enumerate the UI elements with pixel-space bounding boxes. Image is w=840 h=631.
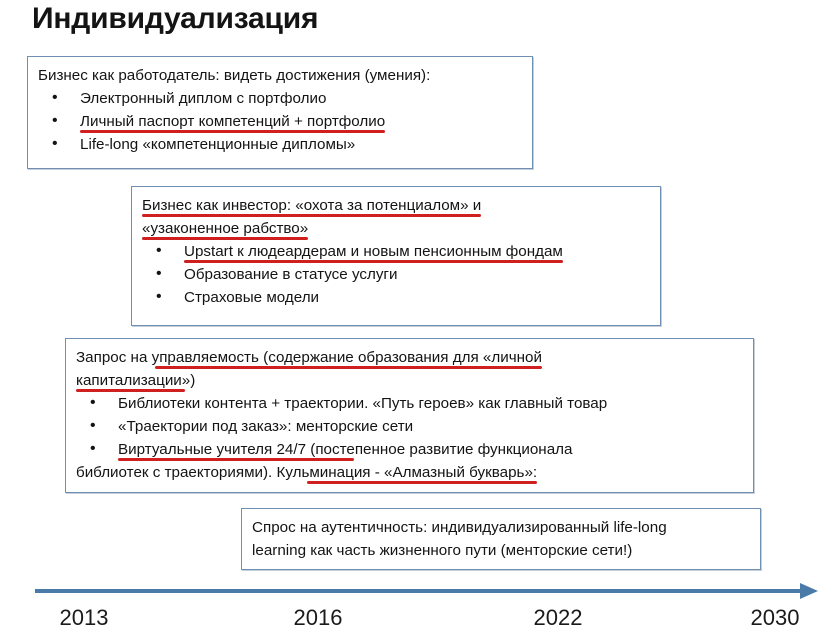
timeline-year-label: 2022: [513, 605, 603, 631]
line-text: Электронный диплом с портфолио: [80, 90, 326, 107]
bullet-item: Upstart к людеардерам и новым пенсионным…: [142, 240, 651, 263]
text-line: Бизнес как работодатель: видеть достижен…: [38, 64, 523, 87]
text-line: капитализации»): [76, 369, 744, 392]
line-text: «узаконенное рабство»: [142, 220, 308, 237]
callout-body: Спрос на аутентичность: индивидуализиров…: [242, 509, 760, 569]
timeline-arrow-head-icon: [800, 583, 818, 599]
timeline-year-label: 2016: [273, 605, 363, 631]
line-text: Бизнес как работодатель: видеть достижен…: [38, 67, 430, 84]
line-text: «Траектории под заказ»: менторские сети: [118, 418, 413, 435]
bullet-item: «Траектории под заказ»: менторские сети: [76, 415, 744, 438]
bullet-item: Страховые модели: [142, 286, 651, 309]
callout-body: Бизнес как работодатель: видеть достижен…: [28, 57, 532, 163]
timeline-year-label: 2030: [730, 605, 820, 631]
text-line: «узаконенное рабство»: [142, 217, 651, 240]
line-text: Спрос на аутентичность: индивидуализиров…: [252, 519, 667, 536]
line-text: Запрос на управляемость (содержание обра…: [76, 349, 542, 366]
line-text: Виртуальные учителя 24/7 (постепенное ра…: [118, 441, 572, 458]
text-line: Спрос на аутентичность: индивидуализиров…: [252, 516, 751, 539]
red-underline-mark: [307, 481, 538, 484]
bullet-item: Личный паспорт компетенций + портфолио: [38, 110, 523, 133]
callout-business-as-employer[interactable]: Бизнес как работодатель: видеть достижен…: [27, 56, 533, 169]
callout-demand-for-authenticity[interactable]: Спрос на аутентичность: индивидуализиров…: [241, 508, 761, 570]
bullet-item: Библиотеки контента + траектории. «Путь …: [76, 392, 744, 415]
callout-body: Бизнес как инвестор: «охота за потенциал…: [132, 187, 660, 316]
bullet-item: Life-long «компетенционные дипломы»: [38, 133, 523, 156]
line-text: Страховые модели: [184, 289, 319, 306]
callout-demand-for-manageability[interactable]: Запрос на управляемость (содержание обра…: [65, 338, 754, 493]
line-text: Библиотеки контента + траектории. «Путь …: [118, 395, 607, 412]
text-line: Запрос на управляемость (содержание обра…: [76, 346, 744, 369]
timeline-arrow-shaft: [35, 589, 807, 593]
line-text: капитализации»): [76, 372, 195, 389]
bullet-item: Образование в статусе услуги: [142, 263, 651, 286]
timeline-year-label: 2013: [39, 605, 129, 631]
text-line: learning как часть жизненного пути (мент…: [252, 539, 751, 562]
line-text: Образование в статусе услуги: [184, 266, 397, 283]
line-text: learning как часть жизненного пути (мент…: [252, 542, 632, 559]
bullet-item: Виртуальные учителя 24/7 (постепенное ра…: [76, 438, 744, 461]
line-text: Life-long «компетенционные дипломы»: [80, 136, 355, 153]
page-title: Индивидуализация: [32, 2, 318, 36]
callout-body: Запрос на управляемость (содержание обра…: [66, 339, 753, 491]
text-line: библиотек с траекториями). Кульминация -…: [76, 461, 744, 484]
line-text: Личный паспорт компетенций + портфолио: [80, 113, 385, 130]
line-text: библиотек с траекториями). Кульминация -…: [76, 464, 537, 481]
line-text: Бизнес как инвестор: «охота за потенциал…: [142, 197, 481, 214]
text-line: Бизнес как инвестор: «охота за потенциал…: [142, 194, 651, 217]
timeline-axis: 2013201620222030: [0, 575, 840, 631]
callout-business-as-investor[interactable]: Бизнес как инвестор: «охота за потенциал…: [131, 186, 661, 326]
line-text: Upstart к людеардерам и новым пенсионным…: [184, 243, 563, 260]
slide-canvas: Индивидуализация Бизнес как работодатель…: [0, 0, 840, 631]
bullet-item: Электронный диплом с портфолио: [38, 87, 523, 110]
